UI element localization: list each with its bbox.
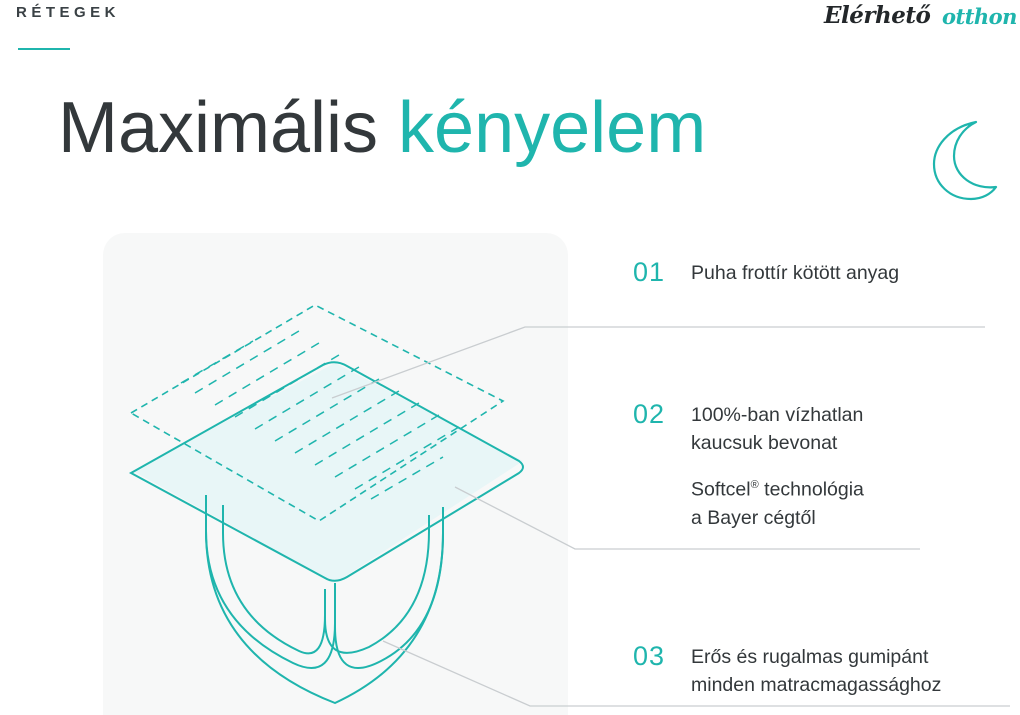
callout-02-subtext-prefix: Softcel xyxy=(691,479,751,501)
mattress-protector-layers-diagram xyxy=(103,233,583,715)
callout-01-number: 01 xyxy=(633,257,665,288)
callout-02-text: 100%-ban vízhatlan kaucsuk bevonat xyxy=(691,401,863,457)
brand-name-part1: Elérhető xyxy=(824,2,930,29)
registered-trademark-icon: ® xyxy=(751,479,759,491)
crescent-moon-icon xyxy=(930,118,1000,203)
page-title: Maximális kényelem xyxy=(58,92,706,164)
callout-02-number: 02 xyxy=(633,399,665,430)
section-label: RÉTEGEK xyxy=(16,4,120,21)
brand-name-part2: otthon xyxy=(942,4,1017,29)
section-label-underline xyxy=(18,48,70,50)
waterproof-layer-shape xyxy=(133,363,523,583)
brand-logo: Elérhető otthon xyxy=(824,0,1014,40)
callout-02-subtext: Softcel® technológia a Bayer cégtől xyxy=(691,471,864,532)
callout-01-text: Puha frottír kötött anyag xyxy=(691,259,899,287)
page-title-accent: kényelem xyxy=(398,88,706,168)
callout-03-number: 03 xyxy=(633,641,665,672)
callout-03-text: Erős és rugalmas gumipánt minden matracm… xyxy=(691,643,941,699)
page-title-dark: Maximális xyxy=(58,88,378,168)
